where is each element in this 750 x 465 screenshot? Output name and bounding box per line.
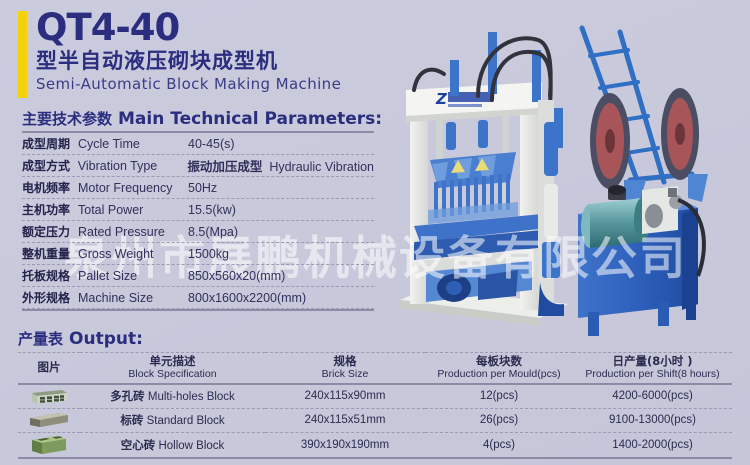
product-model-name: QT4-40 bbox=[36, 8, 341, 48]
column-header-brick-size-cn: 规格 bbox=[265, 355, 425, 368]
hydraulic-power-pack bbox=[578, 185, 704, 336]
spec-value: 850x560x20(mm) bbox=[188, 269, 374, 283]
column-header-per-shift: 日产量(8小时 ) Production per Shift(8 hours) bbox=[573, 353, 732, 385]
trolley-wheel-right bbox=[661, 88, 699, 180]
column-header-per-mould-en: Production per Mould(pcs) bbox=[425, 368, 573, 381]
spec-row: 托板规格 Pallet Size 850x560x20(mm) bbox=[22, 265, 374, 287]
standard-brick-thumbnail bbox=[18, 408, 80, 432]
title-block: QT4-40 型半自动液压砌块成型机 Semi-Automatic Block … bbox=[18, 8, 341, 94]
spec-label-cn: 额定压力 bbox=[22, 223, 78, 240]
spec-value: 振动加压成型 Hydraulic Vibration bbox=[187, 156, 374, 175]
spec-label-cn: 整机重量 bbox=[22, 245, 78, 262]
spec-label-en: Machine Size bbox=[78, 291, 188, 305]
spec-value: 800x1600x2200(mm) bbox=[188, 291, 374, 305]
block-description: 标砖 Standard Block bbox=[80, 408, 265, 432]
block-description-en: Hollow Block bbox=[158, 440, 224, 452]
spec-row: 主机功率 Total Power 15.5(kw) bbox=[22, 199, 374, 221]
output-heading-cn: 产量表 bbox=[18, 330, 63, 348]
main-cylinder-assembly bbox=[538, 100, 564, 316]
brick-size-value: 240x115x90mm bbox=[265, 384, 425, 408]
column-header-image: 图片 bbox=[18, 353, 80, 385]
spec-row: 成型方式 Vibration Type 振动加压成型 Hydraulic Vib… bbox=[22, 155, 374, 177]
column-header-description-en: Block Specification bbox=[80, 368, 265, 381]
spec-value: 50Hz bbox=[188, 181, 374, 195]
column-header-image-cn: 图片 bbox=[18, 361, 80, 374]
block-description: 空心砖 Hollow Block bbox=[80, 432, 265, 458]
output-section-heading: 产量表Output: bbox=[18, 328, 143, 349]
spec-row: 成型周期 Cycle Time 40-45(s) bbox=[22, 133, 374, 155]
specs-section-heading: 主要技术参数Main Technical Parameters: bbox=[22, 108, 382, 129]
spec-table-bottom-rule bbox=[22, 309, 374, 311]
spec-label-en: Pallet Size bbox=[78, 269, 188, 283]
specs-heading-en: Main Technical Parameters: bbox=[118, 109, 382, 129]
per-shift-value: 9100-13000(pcs) bbox=[573, 408, 732, 432]
spec-label-cn: 外形规格 bbox=[22, 289, 78, 306]
yellow-accent-bar bbox=[18, 11, 27, 98]
pump-valve-block bbox=[642, 186, 683, 234]
spec-label-en: Gross Weight bbox=[78, 247, 188, 261]
spec-label-en: Rated Pressure bbox=[78, 225, 188, 239]
column-header-description: 单元描述 Block Specification bbox=[80, 353, 265, 385]
spec-label-en: Cycle Time bbox=[78, 137, 188, 151]
column-header-description-cn: 单元描述 bbox=[80, 355, 265, 368]
specs-heading-cn: 主要技术参数 bbox=[22, 110, 112, 128]
multi-holes-brick-thumbnail bbox=[18, 384, 80, 408]
hollow-brick-thumbnail bbox=[18, 432, 80, 458]
spec-label-en: Total Power bbox=[78, 203, 188, 217]
brick-size-value: 240x115x51mm bbox=[265, 408, 425, 432]
spec-row: 整机重量 Gross Weight 1500kg bbox=[22, 243, 374, 265]
spec-value: 15.5(kw) bbox=[188, 203, 374, 217]
spec-value-cn: 振动加压成型 bbox=[187, 159, 262, 174]
per-shift-value: 4200-6000(pcs) bbox=[573, 384, 732, 408]
spec-label-cn: 成型周期 bbox=[22, 135, 78, 152]
spec-label-cn: 主机功率 bbox=[22, 201, 78, 218]
spec-row: 电机频率 Motor Frequency 50Hz bbox=[22, 177, 374, 199]
spec-value: 8.5(Mpa) bbox=[188, 225, 374, 239]
spec-row: 外形规格 Machine Size 800x1600x2200(mm) bbox=[22, 287, 374, 309]
per-mould-value: 4(pcs) bbox=[425, 432, 573, 458]
column-header-per-shift-cn: 日产量(8小时 ) bbox=[573, 355, 732, 368]
output-table: 图片 单元描述 Block Specification 规格 Brick Siz… bbox=[18, 352, 732, 459]
block-description-cn: 多孔砖 bbox=[110, 389, 145, 403]
spec-value: 1500kg bbox=[188, 247, 374, 261]
column-header-per-shift-en: Production per Shift(8 hours) bbox=[573, 368, 732, 381]
per-mould-value: 12(pcs) bbox=[425, 384, 573, 408]
spec-label-cn: 成型方式 bbox=[22, 157, 78, 174]
output-table-header-row: 图片 单元描述 Block Specification 规格 Brick Siz… bbox=[18, 353, 732, 385]
spec-label-en: Vibration Type bbox=[78, 159, 188, 173]
block-description-cn: 标砖 bbox=[120, 413, 143, 427]
output-heading-en: Output: bbox=[69, 329, 143, 349]
column-header-per-mould-cn: 每板块数 bbox=[425, 355, 573, 368]
machine-illustration: Z bbox=[392, 4, 748, 340]
spec-row: 额定压力 Rated Pressure 8.5(Mpa) bbox=[22, 221, 374, 243]
table-row: 空心砖 Hollow Block 390x190x190mm 4(pcs) 14… bbox=[18, 432, 732, 458]
vibration-deck bbox=[414, 214, 548, 302]
per-shift-value: 1400-2000(pcs) bbox=[573, 432, 732, 458]
per-mould-value: 26(pcs) bbox=[425, 408, 573, 432]
table-row: 标砖 Standard Block 240x115x51mm 26(pcs) 9… bbox=[18, 408, 732, 432]
trolley-wheel-left bbox=[590, 93, 630, 189]
spec-value-en: Hydraulic Vibration bbox=[269, 160, 374, 174]
svg-text:Z: Z bbox=[435, 90, 448, 108]
column-header-brick-size-en: Brick Size bbox=[265, 368, 425, 381]
spec-label-cn: 电机频率 bbox=[22, 179, 78, 196]
block-description-cn: 空心砖 bbox=[121, 438, 156, 452]
brick-size-value: 390x190x190mm bbox=[265, 432, 425, 458]
technical-parameters-table: 成型周期 Cycle Time 40-45(s) 成型方式 Vibration … bbox=[22, 131, 374, 311]
spec-value: 40-45(s) bbox=[188, 137, 374, 151]
block-description: 多孔砖 Multi-holes Block bbox=[80, 384, 265, 408]
spec-label-en: Motor Frequency bbox=[78, 181, 188, 195]
product-name-chinese: 型半自动液压砌块成型机 bbox=[36, 48, 341, 74]
column-header-brick-size: 规格 Brick Size bbox=[265, 353, 425, 385]
product-name-english: Semi-Automatic Block Making Machine bbox=[36, 74, 341, 94]
column-header-per-mould: 每板块数 Production per Mould(pcs) bbox=[425, 353, 573, 385]
spec-label-cn: 托板规格 bbox=[22, 267, 78, 284]
block-description-en: Multi-holes Block bbox=[148, 391, 235, 403]
block-description-en: Standard Block bbox=[147, 415, 225, 427]
table-row: 多孔砖 Multi-holes Block 240x115x90mm 12(pc… bbox=[18, 384, 732, 408]
